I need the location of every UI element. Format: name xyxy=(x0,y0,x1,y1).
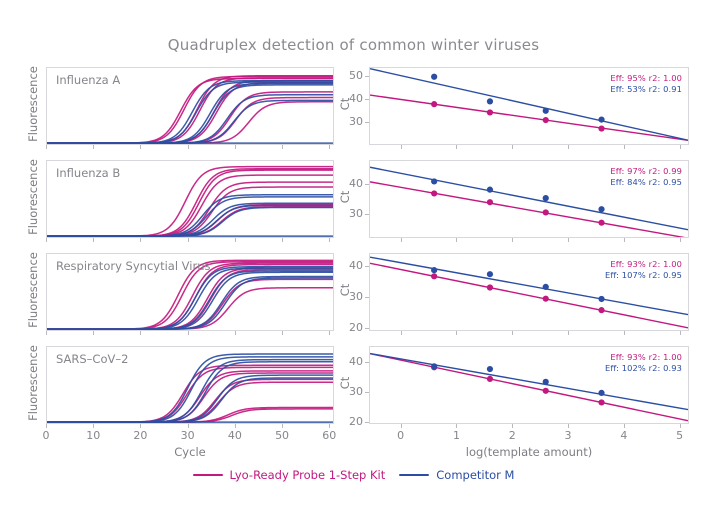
y-axis-label-4: Fluorescence xyxy=(26,344,40,422)
x-tick-mark xyxy=(568,331,569,335)
efficiency-annotation-competitor: Eff: 84% r2: 0.95 xyxy=(610,177,682,187)
efficiency-annotation-kit: Eff: 93% r2: 1.00 xyxy=(610,352,682,362)
y-tick-label: 30 xyxy=(341,290,363,303)
x-tick-mark xyxy=(680,331,681,335)
x-tick-mark xyxy=(512,424,513,428)
x-tick-mark xyxy=(512,331,513,335)
figure-legend: Lyo-Ready Probe 1-Step Kit Competitor M xyxy=(0,468,707,482)
y-tick-mark xyxy=(365,328,369,329)
y-tick-label: 50 xyxy=(341,69,363,82)
x-tick-mark xyxy=(282,331,283,335)
x-tick-label: 30 xyxy=(176,429,200,442)
x-tick-mark xyxy=(46,424,47,428)
y-tick-label: 40 xyxy=(341,177,363,190)
x-tick-label: 60 xyxy=(317,429,341,442)
y-tick-label: 20 xyxy=(341,321,363,334)
y-axis-label-ct-2: Ct xyxy=(338,158,352,236)
x-tick-mark xyxy=(235,331,236,335)
x-tick-mark xyxy=(401,424,402,428)
x-tick-mark xyxy=(680,238,681,242)
x-tick-label: 20 xyxy=(128,429,152,442)
x-tick-label: 5 xyxy=(668,429,692,442)
x-tick-mark xyxy=(329,331,330,335)
page-title: Quadruplex detection of common winter vi… xyxy=(0,36,707,54)
x-tick-mark xyxy=(680,145,681,149)
x-tick-label: 50 xyxy=(270,429,294,442)
x-tick-label: 4 xyxy=(612,429,636,442)
y-tick-mark xyxy=(365,99,369,100)
x-axis-label-standard-curve: log(template amount) xyxy=(369,445,689,459)
efficiency-annotation-competitor: Eff: 53% r2: 0.91 xyxy=(610,84,682,94)
standard-curve-plot-3: Eff: 93% r2: 1.00Eff: 107% r2: 0.95 xyxy=(369,253,689,331)
x-tick-mark xyxy=(188,238,189,242)
x-tick-mark xyxy=(401,238,402,242)
y-tick-label: 30 xyxy=(341,207,363,220)
x-tick-label: 3 xyxy=(556,429,580,442)
efficiency-annotation-kit: Eff: 95% r2: 1.00 xyxy=(610,73,682,83)
x-tick-mark xyxy=(401,331,402,335)
x-tick-mark xyxy=(46,145,47,149)
y-axis-label-2: Fluorescence xyxy=(26,158,40,236)
efficiency-annotation-competitor: Eff: 102% r2: 0.93 xyxy=(605,363,682,373)
x-tick-mark xyxy=(93,331,94,335)
legend-label-kit: Lyo-Ready Probe 1-Step Kit xyxy=(230,468,386,482)
x-tick-mark xyxy=(282,424,283,428)
standard-curve-plot-4: Eff: 93% r2: 1.00Eff: 102% r2: 0.93 xyxy=(369,346,689,424)
y-tick-mark xyxy=(365,184,369,185)
x-tick-label: 1 xyxy=(444,429,468,442)
legend-label-competitor: Competitor M xyxy=(436,468,514,482)
efficiency-annotation-competitor: Eff: 107% r2: 0.95 xyxy=(605,270,682,280)
y-tick-label: 40 xyxy=(341,92,363,105)
x-tick-mark xyxy=(401,145,402,149)
x-tick-mark xyxy=(329,424,330,428)
y-tick-label: 30 xyxy=(341,115,363,128)
x-tick-label: 0 xyxy=(389,429,413,442)
y-tick-mark xyxy=(365,266,369,267)
y-tick-mark xyxy=(365,362,369,363)
x-tick-mark xyxy=(282,145,283,149)
x-tick-mark xyxy=(624,145,625,149)
x-tick-mark xyxy=(188,424,189,428)
x-tick-label: 2 xyxy=(500,429,524,442)
x-tick-mark xyxy=(512,238,513,242)
y-tick-mark xyxy=(365,392,369,393)
x-tick-mark xyxy=(329,238,330,242)
x-tick-mark xyxy=(46,238,47,242)
x-tick-mark xyxy=(140,238,141,242)
y-tick-label: 40 xyxy=(341,259,363,272)
x-tick-mark xyxy=(140,145,141,149)
legend-item-competitor-m: Competitor M xyxy=(399,468,514,482)
x-tick-mark xyxy=(282,238,283,242)
y-tick-label: 40 xyxy=(341,355,363,368)
x-tick-mark xyxy=(46,331,47,335)
y-tick-mark xyxy=(365,214,369,215)
amplification-plot-4: SARS–CoV–2 xyxy=(46,346,334,424)
x-tick-mark xyxy=(140,331,141,335)
x-tick-mark xyxy=(188,145,189,149)
efficiency-annotation-kit: Eff: 97% r2: 0.99 xyxy=(610,166,682,176)
x-tick-mark xyxy=(93,145,94,149)
x-tick-mark xyxy=(456,238,457,242)
x-tick-label: 40 xyxy=(223,429,247,442)
x-tick-label: 10 xyxy=(81,429,105,442)
x-tick-mark xyxy=(456,331,457,335)
x-axis-label-amplification: Cycle xyxy=(46,445,334,459)
x-tick-mark xyxy=(188,331,189,335)
y-tick-mark xyxy=(365,122,369,123)
x-tick-mark xyxy=(568,238,569,242)
efficiency-annotation-kit: Eff: 93% r2: 1.00 xyxy=(610,259,682,269)
x-tick-mark xyxy=(140,424,141,428)
x-tick-mark xyxy=(456,424,457,428)
y-tick-mark xyxy=(365,297,369,298)
x-tick-mark xyxy=(456,145,457,149)
line-swatch-kit-icon xyxy=(193,474,223,476)
amplification-plot-1: Influenza A xyxy=(46,67,334,145)
x-tick-label: 0 xyxy=(34,429,58,442)
x-tick-mark xyxy=(624,424,625,428)
line-swatch-competitor-icon xyxy=(399,474,429,476)
legend-item-lyo-ready-probe-kit: Lyo-Ready Probe 1-Step Kit xyxy=(193,468,386,482)
amplification-plot-2: Influenza B xyxy=(46,160,334,238)
amplification-plot-3: Respiratory Syncytial Virus xyxy=(46,253,334,331)
y-tick-mark xyxy=(365,422,369,423)
x-tick-mark xyxy=(93,238,94,242)
y-tick-label: 20 xyxy=(341,415,363,428)
x-tick-mark xyxy=(329,145,330,149)
x-tick-mark xyxy=(568,145,569,149)
x-tick-mark xyxy=(680,424,681,428)
x-tick-mark xyxy=(624,238,625,242)
y-tick-mark xyxy=(365,76,369,77)
figure-canvas: Quadruplex detection of common winter vi… xyxy=(0,0,707,531)
x-tick-mark xyxy=(624,331,625,335)
x-tick-mark xyxy=(235,145,236,149)
x-tick-mark xyxy=(235,424,236,428)
y-axis-label-1: Fluorescence xyxy=(26,65,40,143)
standard-curve-plot-1: Eff: 95% r2: 1.00Eff: 53% r2: 0.91 xyxy=(369,67,689,145)
x-tick-mark xyxy=(235,238,236,242)
y-tick-label: 30 xyxy=(341,385,363,398)
x-tick-mark xyxy=(568,424,569,428)
y-axis-label-3: Fluorescence xyxy=(26,251,40,329)
x-tick-mark xyxy=(512,145,513,149)
x-tick-mark xyxy=(93,424,94,428)
standard-curve-plot-2: Eff: 97% r2: 0.99Eff: 84% r2: 0.95 xyxy=(369,160,689,238)
